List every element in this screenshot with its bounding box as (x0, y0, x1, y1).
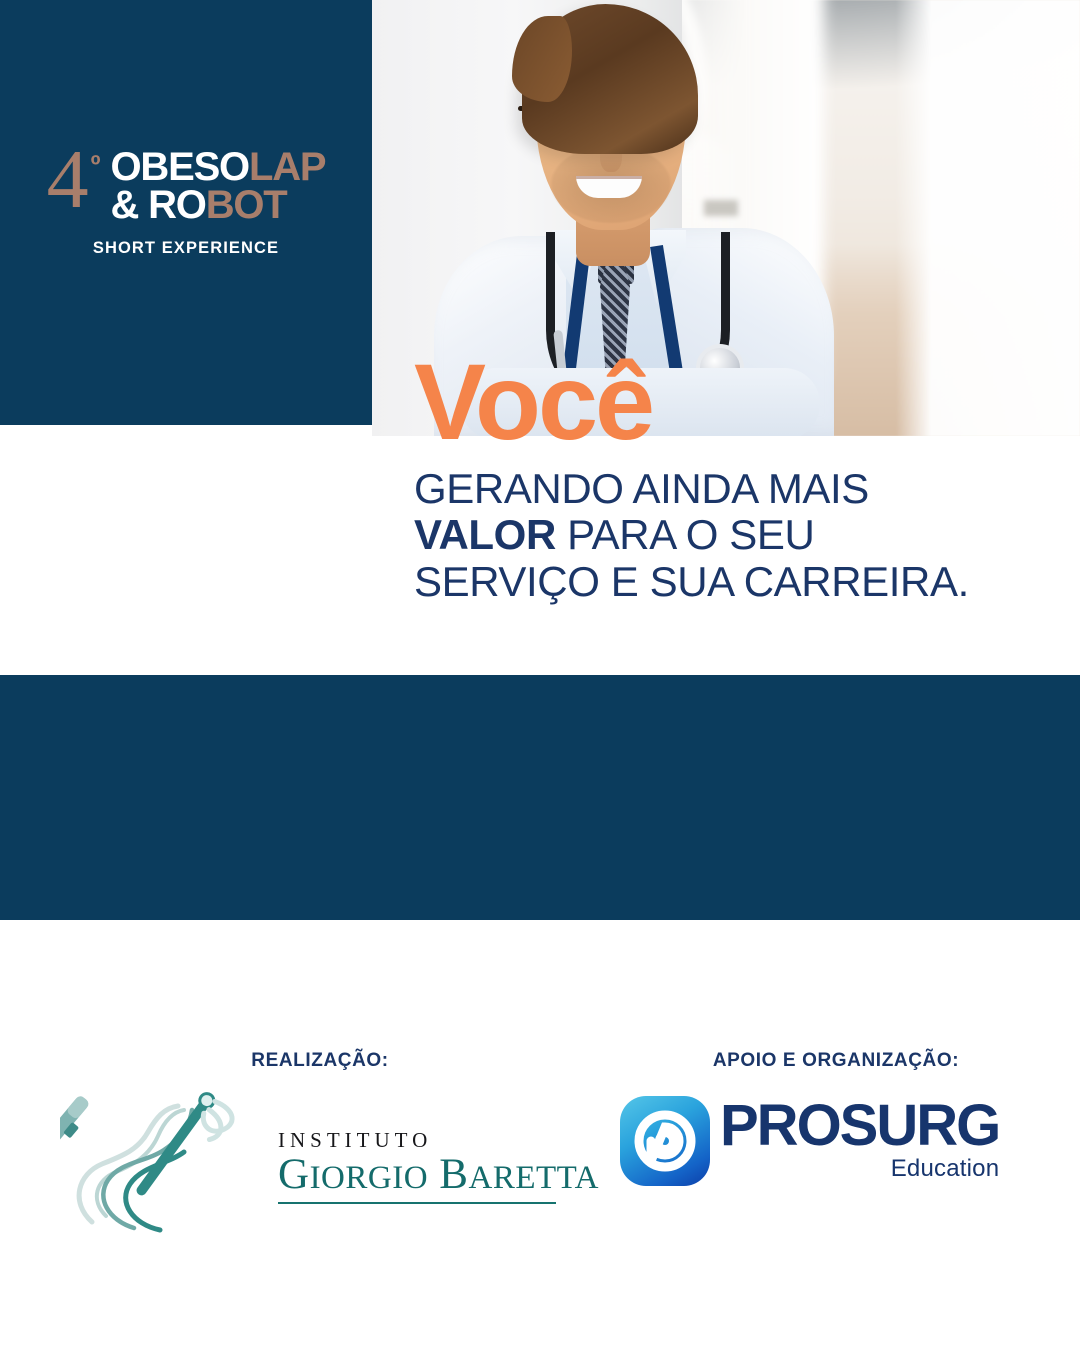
wordmark-underline (278, 1202, 556, 1205)
instituto-word: INSTITUTO (278, 1128, 599, 1153)
poster-root: { "brand": { "navy": "#0b3c5d", "orange"… (0, 0, 1080, 1350)
event-name: OBESOLAP & ROBOT (110, 148, 325, 225)
headline-line-3: SERVIÇO E SUA CARREIRA. (414, 559, 1034, 605)
name-b: B (428, 1151, 468, 1198)
prosurg-p-icon (620, 1096, 710, 1186)
event-name-line-2: & ROBOT (110, 186, 325, 224)
apoio-label: APOIO E ORGANIZAÇÃO: (600, 1050, 1080, 1072)
prosurg-logo: PROSURG Education (620, 1096, 999, 1186)
headline-line-1: GERANDO AINDA MAIS (414, 466, 1034, 512)
prosurg-tagline: Education (720, 1155, 999, 1183)
realizacao-label: REALIZAÇÃO: (0, 1050, 600, 1072)
name-aretta: ARETTA (468, 1160, 599, 1196)
headline-valor: VALOR (414, 511, 556, 558)
name-g: G (278, 1151, 310, 1198)
event-logo-panel: 4 º OBESOLAP & ROBOT SHORT EXPERIENCE (0, 0, 372, 425)
edition-number: 4 (47, 146, 87, 215)
instituto-giorgio-baretta-logo: INSTITUTO GIORGIO BARETTA (60, 1090, 560, 1240)
prosurg-word: PROSURG (720, 1099, 999, 1154)
prosurg-wordmark: PROSURG Education (720, 1099, 999, 1184)
event-subtitle: SHORT EXPERIENCE (0, 239, 372, 258)
navy-band (0, 675, 1080, 920)
name-iorgio: IORGIO (310, 1160, 428, 1196)
headline-voce: Você (414, 360, 1034, 444)
instituto-giorgio-baretta-wordmark: INSTITUTO GIORGIO BARETTA (278, 1128, 599, 1204)
event-name-bot: BOT (206, 183, 287, 227)
footer: REALIZAÇÃO: (0, 1050, 1080, 1280)
doctor-hair (512, 16, 572, 102)
event-name-lap: LAP (249, 145, 325, 189)
edition-ordinal: º (91, 150, 101, 181)
headline-line-2-rest: PARA O SEU (556, 511, 815, 558)
event-name-obeso: OBESO (110, 145, 248, 189)
footer-apoio: APOIO E ORGANIZAÇÃO: PROSURG Education (600, 1050, 1080, 1072)
headline-block: Você GERANDO AINDA MAIS VALOR PARA O SEU… (414, 360, 1034, 605)
event-logo-lockup: 4 º OBESOLAP & ROBOT SHORT EXPERIENCE (0, 146, 372, 258)
stomach-laparoscopy-svg (60, 1090, 275, 1235)
headline-body: GERANDO AINDA MAIS VALOR PARA O SEU SERV… (414, 466, 1034, 605)
event-name-robo: & RO (110, 183, 205, 227)
headline-line-2: VALOR PARA O SEU (414, 512, 1034, 558)
stomach-laparoscopy-icon (60, 1090, 275, 1235)
prosurg-p-glyph (634, 1110, 696, 1172)
footer-realizacao: REALIZAÇÃO: (0, 1050, 600, 1072)
event-logo-row: 4 º OBESOLAP & ROBOT (0, 146, 372, 225)
giorgio-baretta-name: GIORGIO BARETTA (278, 1153, 599, 1198)
event-name-line-1: OBESOLAP (110, 148, 325, 186)
